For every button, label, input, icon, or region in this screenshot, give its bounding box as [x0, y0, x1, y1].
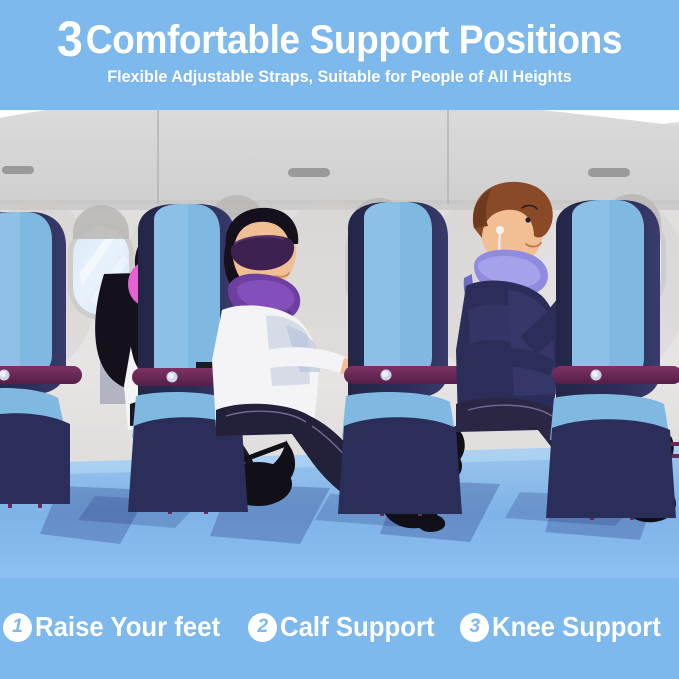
- step-label-2: Calf Support: [280, 612, 435, 642]
- title-number: 3: [57, 11, 82, 67]
- bin-handle-icon: [2, 166, 34, 174]
- bin-handle-icon: [288, 168, 330, 177]
- step-item-1: 1 Raise Your feet: [3, 612, 236, 642]
- page-title: 3Comfortable Support Positions: [24, 16, 655, 63]
- step-item-2: 2 Calf Support: [248, 612, 448, 642]
- cabin-scene-svg: [0, 104, 679, 580]
- header-banner: 3Comfortable Support Positions Flexible …: [0, 0, 679, 110]
- support-steps-list: 1 Raise Your feet 2 Calf Support 3 Knee …: [0, 604, 679, 650]
- airplane-cabin-illustration: [0, 104, 679, 580]
- step-badge-3: 3: [460, 613, 489, 642]
- step-label-1: Raise Your feet: [35, 612, 220, 642]
- overhead-bins: [0, 104, 679, 210]
- step-badge-1: 1: [3, 613, 32, 642]
- armrest: [344, 366, 468, 384]
- step-badge-2: 2: [248, 613, 277, 642]
- step-label-3: Knee Support: [492, 612, 661, 642]
- title-text: Comfortable Support Positions: [86, 18, 622, 62]
- armrest: [0, 366, 82, 384]
- seat-unit: [546, 200, 679, 520]
- armrest: [552, 366, 679, 384]
- page-subtitle: Flexible Adjustable Straps, Suitable for…: [17, 66, 662, 88]
- infographic-root: 3Comfortable Support Positions Flexible …: [0, 0, 679, 679]
- bin-handle-icon: [588, 168, 630, 177]
- footer-banner: 1 Raise Your feet 2 Calf Support 3 Knee …: [0, 578, 679, 679]
- step-item-3: 3 Knee Support: [460, 612, 676, 642]
